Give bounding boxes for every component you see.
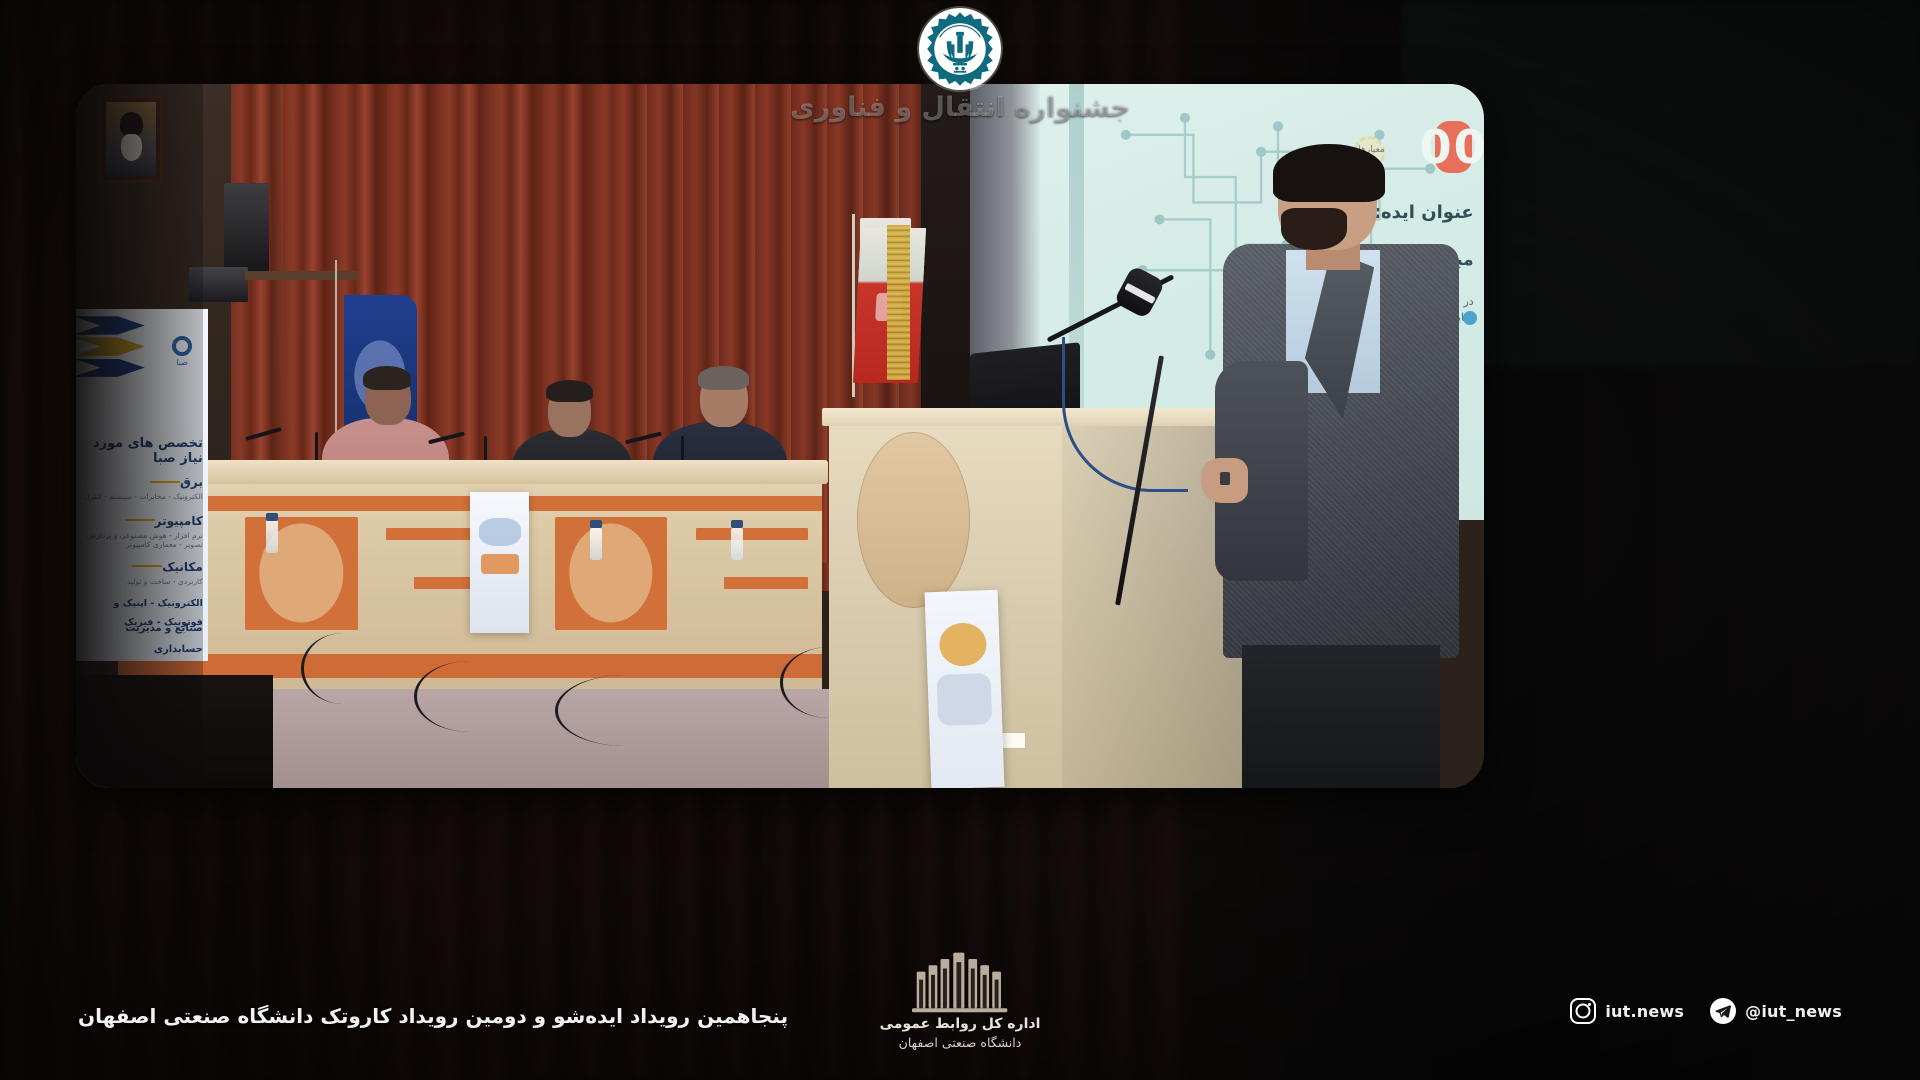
flag-gold-fringe bbox=[887, 225, 910, 380]
flag-pole-blue bbox=[335, 260, 337, 457]
panelist-2-hair bbox=[546, 380, 592, 403]
event-watermark: جشنواره انتقال و فناوری bbox=[790, 92, 1130, 123]
head-table-panel-2 bbox=[555, 517, 668, 630]
social-links: iut.news @iut_news bbox=[1570, 998, 1842, 1024]
telegram-handle: @iut_news bbox=[1745, 1002, 1842, 1021]
head-table-slat-4 bbox=[724, 577, 808, 590]
photo-caption: پنجاهمین رویداد ایده‌شو و دومین رویداد ک… bbox=[78, 1004, 788, 1028]
podium-desk-top bbox=[822, 408, 1273, 426]
table-poster bbox=[470, 492, 529, 633]
news-card-root: جشنواره انتقال و فناوری bbox=[0, 0, 1920, 1080]
head-table-slat-3 bbox=[696, 528, 809, 541]
floor-cable-3 bbox=[555, 675, 696, 745]
podium-emblem-oval bbox=[857, 432, 970, 608]
floor-cable-2 bbox=[414, 661, 527, 731]
panelist-1-hair bbox=[363, 366, 411, 390]
head-table-top bbox=[114, 460, 828, 484]
wall-rail bbox=[245, 271, 358, 281]
presenter-person bbox=[1209, 140, 1484, 788]
panelist-3-hair bbox=[698, 366, 749, 390]
floor-cable-1 bbox=[301, 633, 385, 703]
presenter-beard bbox=[1281, 208, 1347, 250]
instagram-icon bbox=[1570, 998, 1596, 1024]
telegram-icon bbox=[1710, 998, 1736, 1024]
photo-left-shadow bbox=[76, 84, 203, 788]
instagram-handle: iut.news bbox=[1605, 1002, 1684, 1021]
head-table-panel-1 bbox=[245, 517, 358, 630]
social-instagram[interactable]: iut.news bbox=[1570, 998, 1684, 1024]
presenter-ring bbox=[1220, 472, 1229, 485]
water-bottle-1 bbox=[266, 520, 278, 552]
social-telegram[interactable]: @iut_news bbox=[1710, 998, 1842, 1024]
iut-university-seal-icon bbox=[919, 8, 1001, 90]
presenter-hair bbox=[1273, 144, 1386, 202]
water-bottle-4 bbox=[731, 528, 743, 560]
floor-standing-poster bbox=[924, 590, 1004, 788]
water-bottle-3 bbox=[590, 528, 602, 560]
conference-hall-photo: معیارهای داوری ایده ها کد ایده : ۷ ارائه… bbox=[76, 84, 1484, 788]
pr-university-line: دانشگاه صنعتی اصفهان bbox=[899, 1035, 1022, 1050]
wall-speaker bbox=[224, 183, 269, 275]
pr-office-line: اداره کل روابط عمومی bbox=[880, 1016, 1041, 1032]
iut-gateway-monument-icon bbox=[912, 951, 1008, 1013]
public-relations-footer: اداره کل روابط عمومی دانشگاه صنعتی اصفها… bbox=[880, 951, 1041, 1050]
presenter-trousers bbox=[1242, 645, 1440, 787]
